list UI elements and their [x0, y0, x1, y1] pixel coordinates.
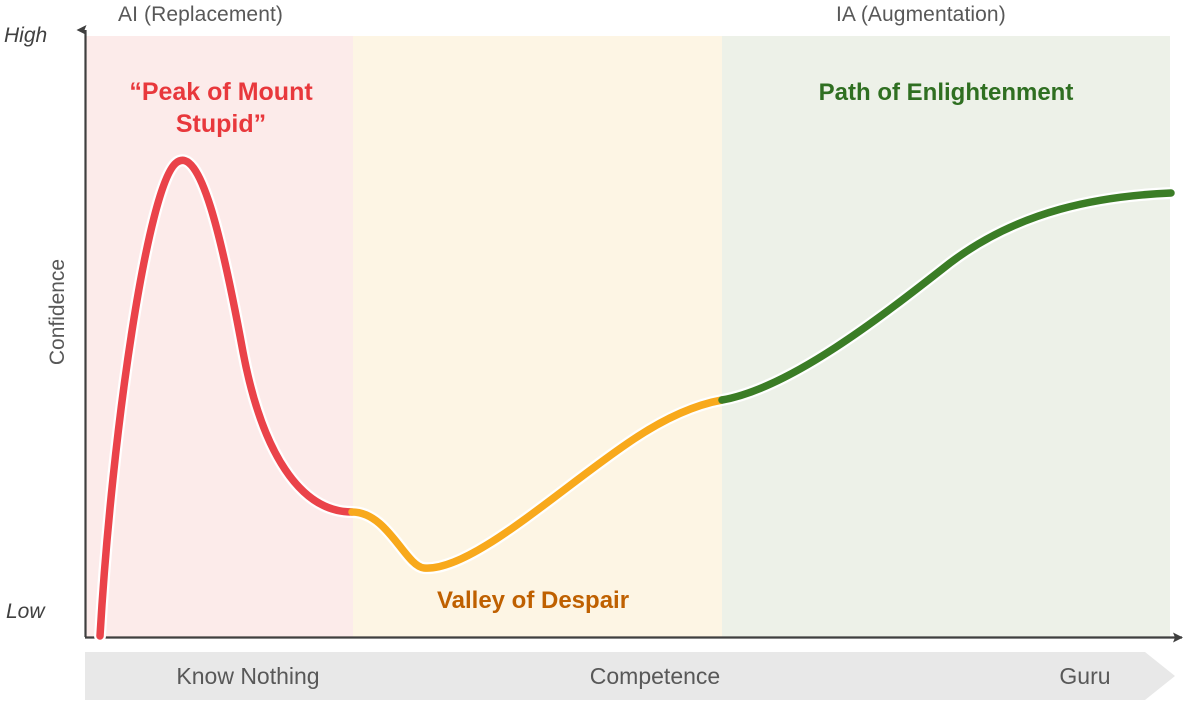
phase-title-ai: AI (Replacement) [118, 0, 283, 30]
phase-title-ia: IA (Augmentation) [836, 0, 1006, 30]
phase-band-transition [353, 36, 722, 637]
stage-label-guru: Guru [1005, 652, 1165, 700]
y-axis-low-label: Low [6, 600, 45, 624]
region-label-peak-of-mount-stupid: “Peak of Mount Stupid” [96, 76, 346, 140]
y-axis-title: Confidence [46, 232, 70, 392]
dunning-kruger-chart: AI (Replacement) IA (Augmentation) High … [0, 0, 1200, 705]
region-label-valley-of-despair: Valley of Despair [383, 586, 683, 617]
region-label-path-of-enlightenment: Path of Enlightenment [760, 78, 1132, 109]
stage-label-know-nothing: Know Nothing [123, 652, 373, 700]
phase-band-ia [722, 36, 1170, 637]
stage-label-competence: Competence [515, 652, 795, 700]
y-axis-high-label: High [4, 24, 47, 48]
progression-arrow: Know Nothing Competence Guru [85, 652, 1175, 700]
